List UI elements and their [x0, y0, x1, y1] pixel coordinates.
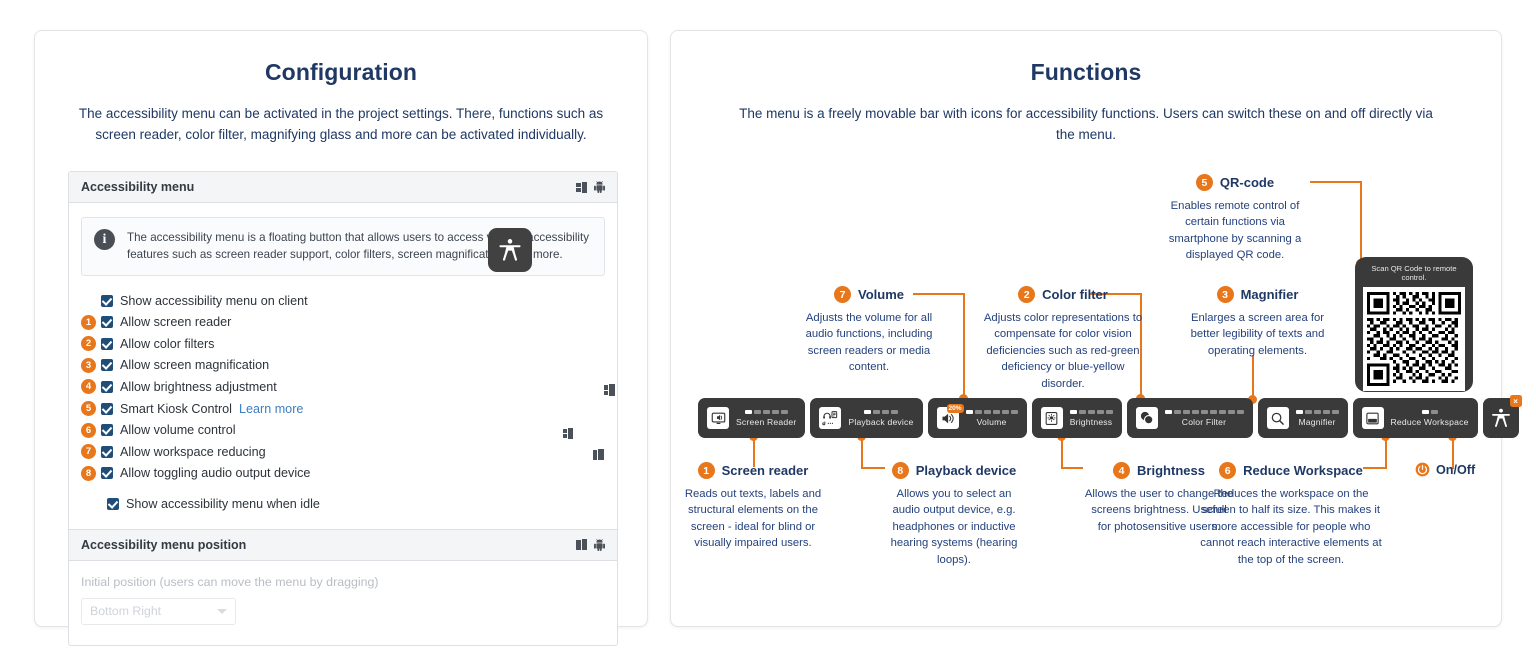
connector-line-brightness-h — [1061, 467, 1083, 469]
initial-position-value: Bottom Right — [90, 604, 161, 618]
magnifier-icon — [1267, 407, 1289, 429]
option-row[interactable]: 4Allow brightness adjustment — [81, 376, 605, 398]
chevron-down-icon — [217, 609, 227, 614]
onoff-label: On/Off — [1436, 463, 1475, 477]
level-bars — [864, 410, 898, 414]
callout-volume: 7 Volume Adjusts the volume for all audi… — [798, 286, 940, 376]
toolbar-label-screen-reader: Screen Reader — [736, 417, 796, 427]
settings-panel: Accessibility menu — [68, 171, 618, 646]
option-number-badge: 2 — [81, 336, 96, 351]
callout-color-filter: 2 Color filter Adjusts color representat… — [983, 286, 1143, 392]
option-checkbox[interactable] — [101, 381, 113, 393]
option-row[interactable]: 2Allow color filters — [81, 333, 605, 355]
section-header-menu-position: Accessibility menu position — [69, 529, 617, 561]
callout-number-badge: 6 — [1219, 462, 1236, 479]
toolbar-meta-color-filter: Color Filter — [1165, 410, 1244, 427]
callout-playback-device: 8 Playback device Allows you to select a… — [884, 462, 1024, 568]
windows-icon — [563, 428, 574, 439]
callout-number-badge: 4 — [1113, 462, 1130, 479]
connector-line-qrcode-v — [1360, 181, 1362, 263]
section-title-menu-position: Accessibility menu position — [81, 538, 246, 552]
level-bars — [1070, 410, 1113, 414]
info-icon: i — [94, 229, 115, 250]
volume-icon: 20% — [937, 407, 959, 429]
power-icon — [1415, 462, 1430, 477]
toolbar-button-screen-reader[interactable]: Screen Reader — [698, 398, 805, 438]
toolbar-button-playback-device[interactable]: Playback device — [810, 398, 922, 438]
level-bars — [1296, 410, 1339, 414]
connector-line-magnifier-v — [1252, 355, 1254, 399]
section-title-accessibility-menu: Accessibility menu — [81, 180, 194, 194]
brightness-icon — [1041, 407, 1063, 429]
toolbar-meta-screen-reader: Screen Reader — [736, 410, 796, 427]
android-icon — [594, 181, 605, 193]
section-body-accessibility-menu: i The accessibility menu is a floating b… — [69, 203, 617, 529]
option-number-badge: 8 — [81, 466, 96, 481]
callout-magnifier-desc: Enlarges a screen area for better legibi… — [1185, 310, 1330, 359]
option-label: Show accessibility menu on client — [120, 294, 308, 308]
reduce-workspace-icon — [1362, 407, 1384, 429]
callout-number-badge: 8 — [892, 462, 909, 479]
callout-magnifier-header: 3 Magnifier — [1185, 286, 1330, 303]
infographic-page: Configuration The accessibility menu can… — [0, 0, 1536, 657]
callout-number-badge: 3 — [1217, 286, 1234, 303]
toolbar-button-volume[interactable]: 20% Volume — [928, 398, 1027, 438]
configuration-card: Configuration The accessibility menu can… — [34, 30, 648, 627]
windows-icon — [604, 384, 615, 395]
option-row[interactable]: 1Allow screen reader — [81, 311, 605, 333]
option-label: Allow brightness adjustment — [120, 380, 277, 394]
callout-color-filter-desc: Adjusts color representations to compens… — [983, 310, 1143, 392]
option-label: Smart Kiosk Control — [120, 402, 232, 416]
option-checkbox[interactable] — [101, 424, 113, 436]
option-checkbox[interactable] — [101, 403, 113, 415]
section-header-accessibility-menu: Accessibility menu — [69, 172, 617, 203]
option-show-when-idle[interactable]: Show accessibility menu when idle — [81, 493, 605, 515]
platform-icons-position — [576, 539, 605, 551]
toolbar-button-magnifier[interactable]: Magnifier — [1258, 398, 1348, 438]
level-bars — [1422, 410, 1438, 414]
toolbar-meta-brightness: Brightness — [1070, 410, 1113, 427]
callout-number-badge: 1 — [698, 462, 715, 479]
windows-icon — [576, 182, 587, 193]
callout-screen-reader: 1 Screen reader Reads out texts, labels … — [683, 462, 823, 552]
phone-caption: Scan QR Code to remote control. — [1363, 264, 1465, 283]
position-field-label: Initial position (users can move the men… — [81, 575, 605, 589]
callout-volume-title: Volume — [858, 287, 904, 302]
close-icon[interactable]: × — [1510, 395, 1522, 407]
callout-reduce-workspace-title: Reduce Workspace — [1243, 463, 1363, 478]
connector-line-qrcode-h — [1310, 181, 1362, 183]
callout-color-filter-header: 2 Color filter — [983, 286, 1143, 303]
option-checkbox[interactable] — [101, 295, 113, 307]
callout-screen-reader-desc: Reads out texts, labels and structural e… — [683, 486, 823, 552]
option-number-badge: 5 — [81, 401, 96, 416]
callout-number-badge: 7 — [834, 286, 851, 303]
toolbar-label-volume: Volume — [977, 417, 1007, 427]
option-label: Allow workspace reducing — [120, 445, 266, 459]
phone-qr-mockup: Scan QR Code to remote control. — [1355, 257, 1473, 392]
configuration-title: Configuration — [35, 59, 647, 86]
option-checkbox[interactable] — [101, 359, 113, 371]
callout-qrcode-desc: Enables remote control of certain functi… — [1155, 198, 1315, 264]
option-label: Allow volume control — [120, 423, 236, 437]
accessibility-person-icon — [1490, 407, 1512, 429]
toolbar-button-color-filter[interactable]: Color Filter — [1127, 398, 1253, 438]
accessibility-button-preview — [488, 228, 532, 272]
screen-reader-icon — [707, 407, 729, 429]
option-number-badge: 4 — [81, 379, 96, 394]
qr-code-image — [1363, 287, 1465, 391]
toolbar-button-accessibility-toggle[interactable]: × — [1483, 398, 1519, 438]
toolbar-meta-reduce-workspace: Reduce Workspace — [1391, 410, 1469, 427]
toolbar-label-brightness: Brightness — [1070, 417, 1113, 427]
initial-position-select[interactable]: Bottom Right — [81, 598, 236, 625]
option-row[interactable]: 7Allow workspace reducing — [81, 441, 605, 463]
callout-volume-desc: Adjusts the volume for all audio functio… — [798, 310, 940, 376]
callout-reduce-workspace: 6 Reduce Workspace Reduces the workspace… — [1196, 462, 1386, 568]
option-number-badge: 7 — [81, 444, 96, 459]
accessibility-toolbar[interactable]: Screen Reader Playback device — [698, 398, 1519, 438]
playback-device-icon — [819, 407, 841, 429]
option-label: Allow screen reader — [120, 315, 231, 329]
platform-icons — [576, 181, 605, 193]
callout-qrcode-title: QR-code — [1220, 175, 1274, 190]
callout-playback-device-desc: Allows you to select an audio output dev… — [884, 486, 1024, 568]
checkbox-show-when-idle[interactable] — [107, 498, 119, 510]
toolbar-meta-volume: Volume — [966, 410, 1018, 427]
option-checkbox[interactable] — [101, 338, 113, 350]
callout-playback-device-title: Playback device — [916, 463, 1016, 478]
option-row[interactable]: 3Allow screen magnification — [81, 355, 605, 377]
connector-line-playback-h — [861, 467, 885, 469]
callout-number-badge: 5 — [1196, 174, 1213, 191]
connector-line-playback-v — [861, 437, 863, 469]
option-checkbox[interactable] — [101, 316, 113, 328]
callout-screen-reader-title: Screen reader — [722, 463, 809, 478]
callout-reduce-workspace-desc: Reduces the workspace on the screen to h… — [1196, 486, 1386, 568]
android-icon — [594, 539, 605, 551]
option-number-badge: 1 — [81, 315, 96, 330]
toolbar-button-brightness[interactable]: Brightness — [1032, 398, 1122, 438]
functions-title: Functions — [671, 59, 1501, 86]
level-bars — [1165, 410, 1244, 414]
toolbar-label-reduce-workspace: Reduce Workspace — [1391, 417, 1469, 427]
qr-code-icon — [1367, 291, 1461, 387]
callout-qrcode-header: 5 QR-code — [1155, 174, 1315, 191]
callout-volume-header: 7 Volume — [798, 286, 940, 303]
option-number-badge: 3 — [81, 358, 96, 373]
option-row[interactable]: 6Allow volume control — [81, 419, 605, 441]
callout-magnifier-title: Magnifier — [1241, 287, 1299, 302]
callout-magnifier: 3 Magnifier Enlarges a screen area for b… — [1185, 286, 1330, 359]
callout-screen-reader-header: 1 Screen reader — [683, 462, 823, 479]
color-filter-icon — [1136, 407, 1158, 429]
learn-more-link[interactable]: Learn more — [239, 402, 303, 416]
toolbar-label-playback-device: Playback device — [848, 417, 913, 427]
windows-icon — [576, 539, 587, 550]
level-bars — [745, 410, 788, 414]
option-row[interactable]: Show accessibility menu on client — [81, 290, 605, 312]
option-row[interactable]: 5Smart Kiosk ControlLearn more — [81, 398, 605, 420]
option-checkbox[interactable] — [101, 446, 113, 458]
callout-reduce-workspace-header: 6 Reduce Workspace — [1196, 462, 1386, 479]
callout-color-filter-title: Color filter — [1042, 287, 1108, 302]
toolbar-label-magnifier: Magnifier — [1298, 417, 1335, 427]
volume-percent-badge: 20% — [947, 404, 964, 413]
toolbar-meta-magnifier: Magnifier — [1296, 410, 1339, 427]
callout-onoff: On/Off — [1415, 462, 1475, 477]
toolbar-label-color-filter: Color Filter — [1182, 417, 1226, 427]
configuration-subtitle: The accessibility menu can be activated … — [78, 104, 604, 146]
callout-playback-device-header: 8 Playback device — [884, 462, 1024, 479]
accessibility-person-icon — [497, 237, 523, 263]
option-label: Allow toggling audio output device — [120, 466, 310, 480]
option-label-show-when-idle: Show accessibility menu when idle — [126, 497, 320, 511]
callout-qrcode: 5 QR-code Enables remote control of cert… — [1155, 174, 1315, 264]
option-number-badge: 6 — [81, 423, 96, 438]
callout-brightness-title: Brightness — [1137, 463, 1205, 478]
windows-icon — [593, 449, 604, 460]
toolbar-button-reduce-workspace[interactable]: Reduce Workspace — [1353, 398, 1478, 438]
options-list: Show accessibility menu on client1Allow … — [81, 290, 605, 484]
option-checkbox[interactable] — [101, 467, 113, 479]
toolbar-meta-playback-device: Playback device — [848, 410, 913, 427]
connector-line-brightness-v — [1061, 437, 1063, 469]
option-label: Allow color filters — [120, 337, 214, 351]
option-label: Allow screen magnification — [120, 358, 269, 372]
section-body-menu-position: Initial position (users can move the men… — [69, 561, 617, 645]
callout-number-badge: 2 — [1018, 286, 1035, 303]
option-row[interactable]: 8Allow toggling audio output device — [81, 463, 605, 485]
connector-line-volume-v — [963, 293, 965, 398]
functions-subtitle: The menu is a freely movable bar with ic… — [729, 104, 1443, 146]
level-bars — [966, 410, 1018, 414]
